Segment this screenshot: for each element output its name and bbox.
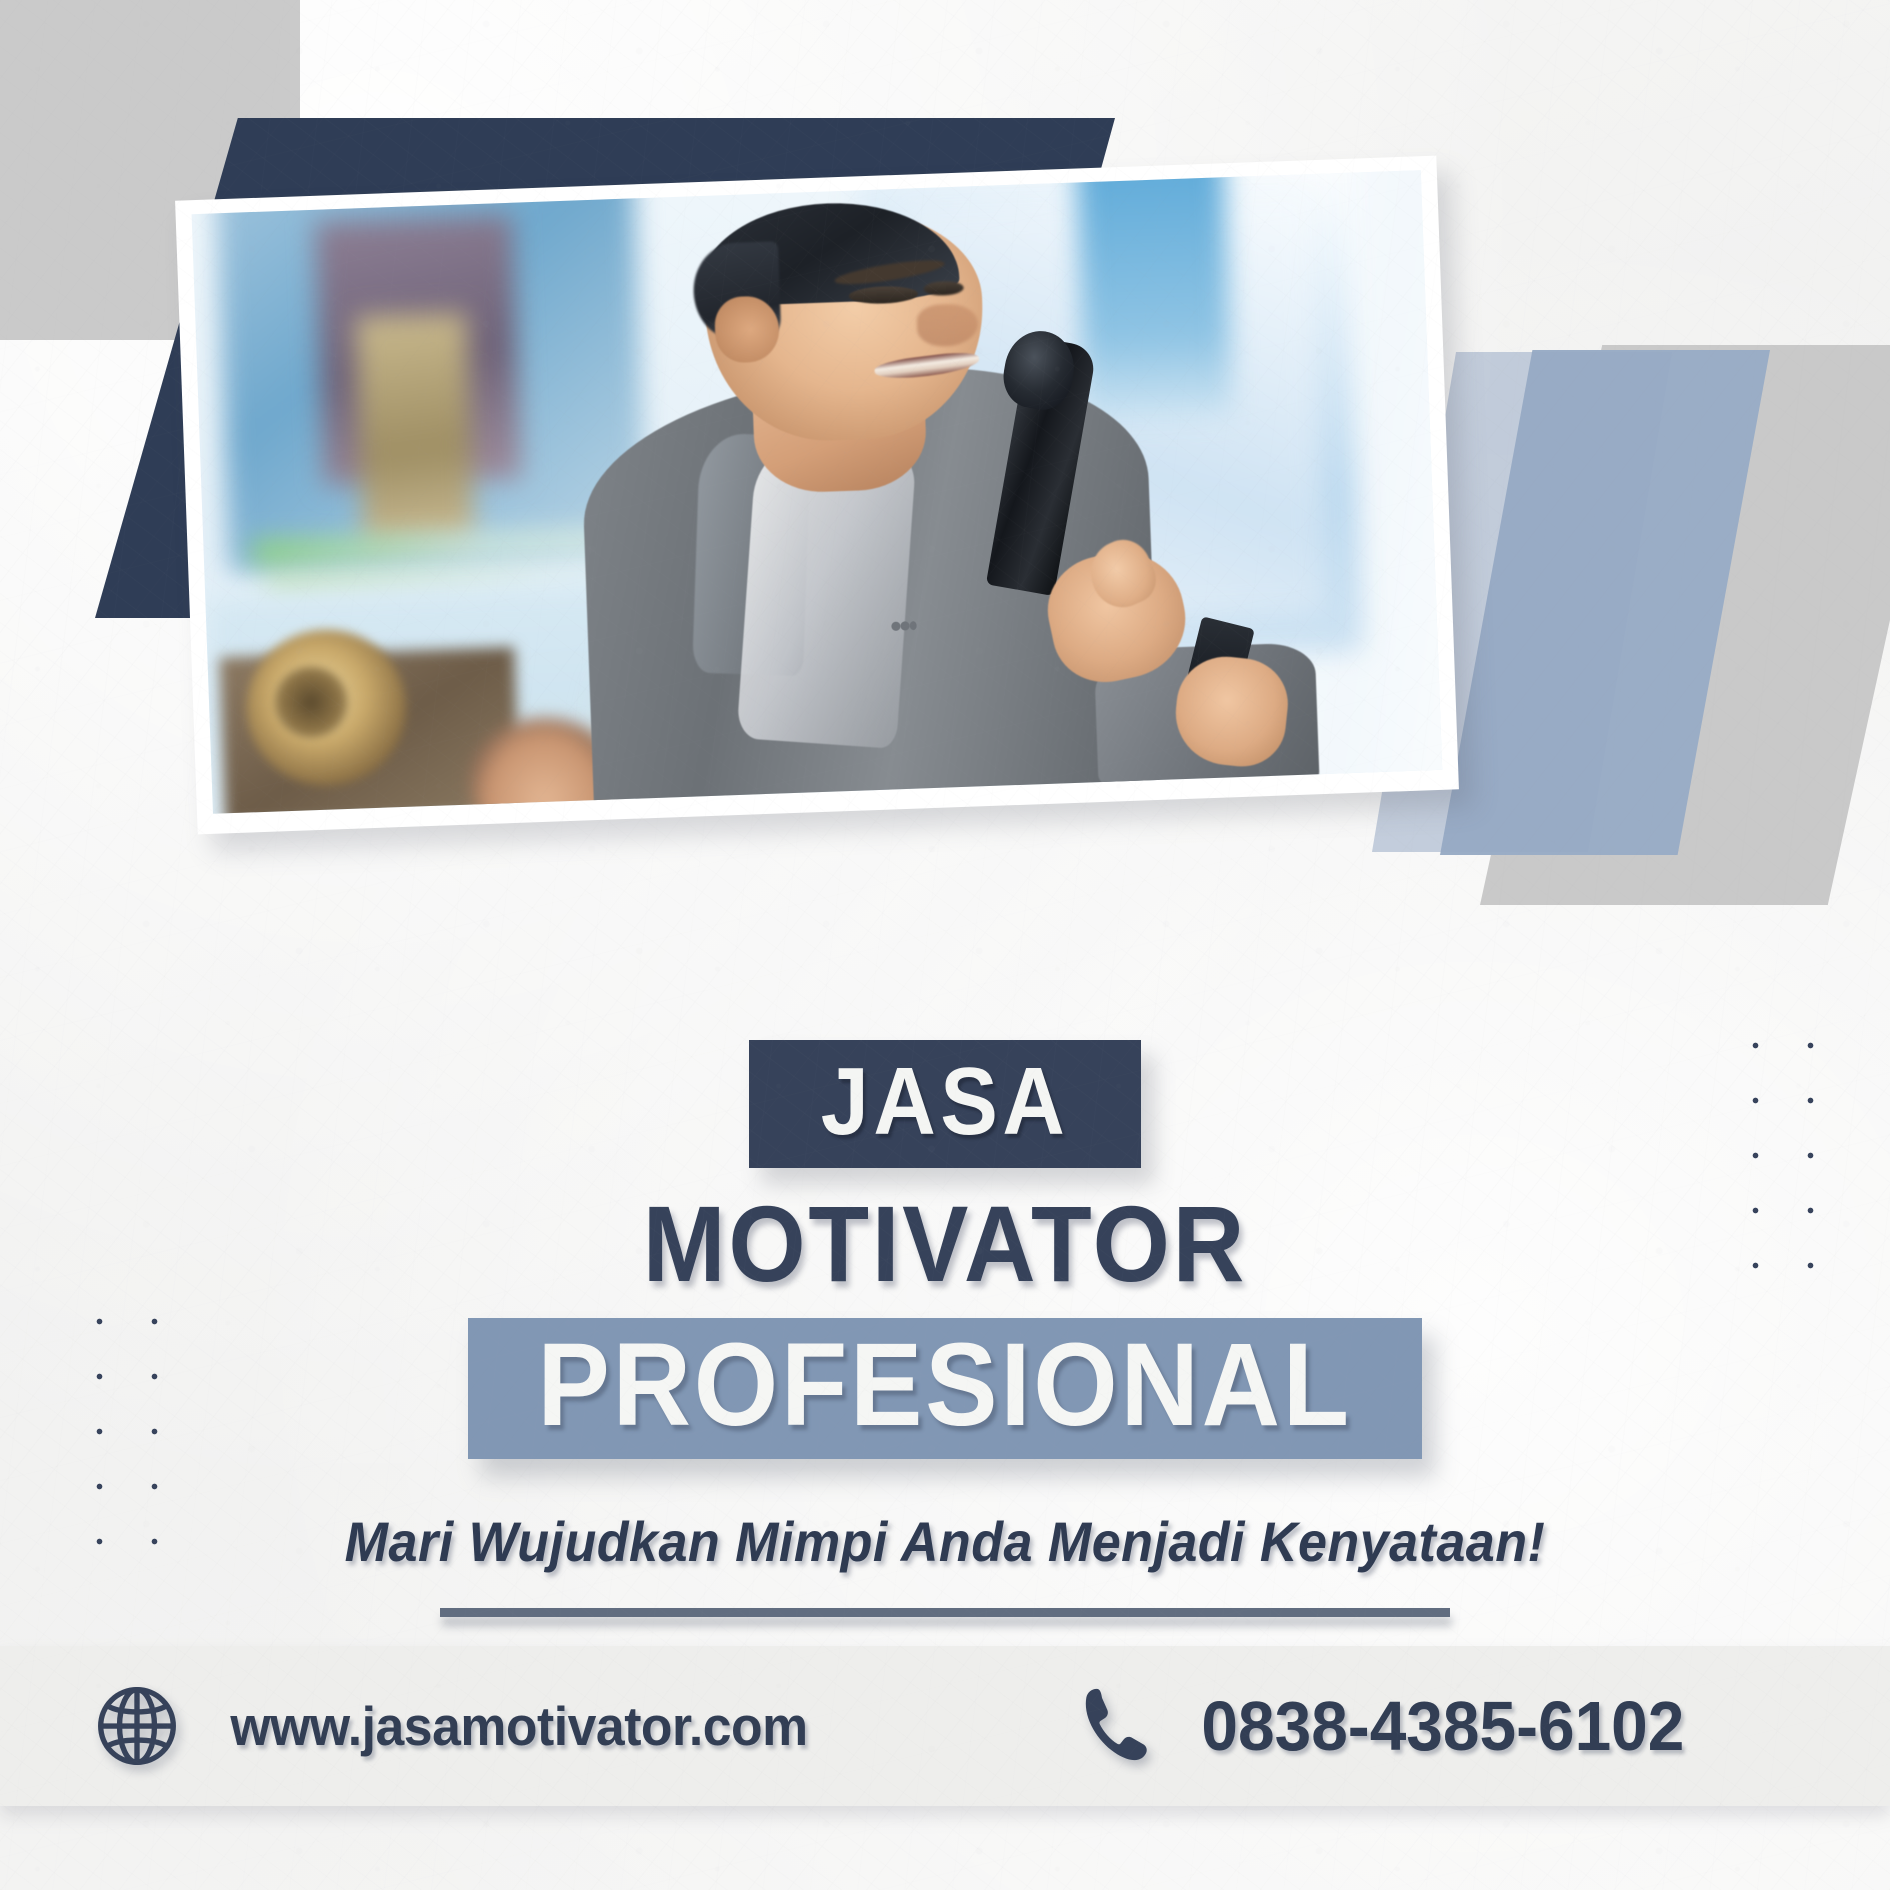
headline-jasa-box: JASA [749, 1040, 1141, 1168]
speaker-photo-frame [175, 156, 1459, 835]
headline-line-profesional: PROFESIONAL [538, 1324, 1352, 1447]
tagline-text: Mari Wujudkan Mimpi Anda Menjadi Kenyata… [66, 1511, 1824, 1573]
headline-line-jasa: JASA [821, 1056, 1069, 1148]
speaker-photo [192, 170, 1443, 814]
phone-label: 0838-4385-6102 [1201, 1686, 1684, 1766]
contact-website[interactable]: www.jasamotivator.com [94, 1683, 826, 1769]
speaker-sleeve-buttons [890, 621, 916, 632]
photo-bg-blue-band [1075, 170, 1232, 422]
headline-profesional-box: PROFESIONAL [468, 1318, 1421, 1459]
website-label: www.jasamotivator.com [230, 1694, 807, 1758]
poster-canvas: JASA MOTIVATOR PROFESIONAL Mari Wujudkan… [0, 0, 1890, 1890]
headline-line-motivator: MOTIVATOR [76, 1190, 1815, 1298]
headline-block: JASA MOTIVATOR PROFESIONAL Mari Wujudkan… [0, 1040, 1890, 1617]
globe-icon [94, 1683, 180, 1769]
photo-bg-banner [355, 312, 474, 544]
contact-footer-bar: www.jasamotivator.com 0838-4385-6102 [0, 1646, 1890, 1806]
contact-phone[interactable]: 0838-4385-6102 [1074, 1682, 1700, 1770]
phone-icon [1074, 1682, 1162, 1770]
tagline-divider [440, 1608, 1450, 1617]
